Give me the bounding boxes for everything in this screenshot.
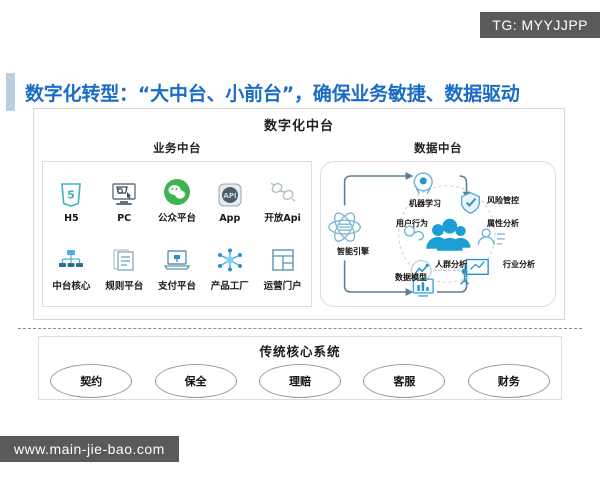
business-item-h5[interactable]: 5 H5 bbox=[45, 180, 98, 224]
business-midplatform-heading: 业务中台 bbox=[42, 137, 312, 161]
section-divider bbox=[18, 328, 582, 329]
data-diagram-container: 智能引擎 机器学习 风险管控 属性分析 行业分析 人群分析 数据模型 用户行为 bbox=[320, 161, 556, 307]
data-node-label-engine: 智能引擎 bbox=[327, 248, 379, 256]
brain-head-icon bbox=[414, 173, 432, 194]
legacy-core-systems-list: 契约 保全 理赔 客服 财务 bbox=[39, 364, 561, 398]
legacy-item[interactable]: 理赔 bbox=[259, 364, 341, 398]
svg-text:5: 5 bbox=[68, 188, 76, 201]
business-item-payment[interactable]: 支付平台 bbox=[151, 245, 204, 292]
business-item-rules[interactable]: 规则平台 bbox=[98, 245, 151, 292]
network-burst-icon bbox=[217, 245, 243, 275]
business-item-pc[interactable]: PC bbox=[98, 180, 151, 224]
legacy-item[interactable]: 客服 bbox=[363, 364, 445, 398]
app-badge-icon: API bbox=[217, 180, 243, 210]
data-node-label-crowd: 人群分析 bbox=[435, 261, 461, 269]
business-item-app[interactable]: API App bbox=[203, 180, 256, 224]
business-item-core[interactable]: 中台核心 bbox=[45, 245, 98, 292]
url-watermark-text: www.main-jie-bao.com bbox=[14, 441, 165, 457]
digital-midplatform-card: 数字化中台 业务中台 5 H5 bbox=[33, 108, 565, 320]
business-item-label: 运营门户 bbox=[264, 278, 302, 292]
business-midplatform-panel: 业务中台 5 H5 bbox=[34, 137, 320, 319]
tg-watermark-badge: TG: MYYJJPP bbox=[480, 12, 600, 38]
business-item-label: PC bbox=[117, 213, 131, 224]
data-node-label-attribute: 属性分析 bbox=[481, 220, 525, 228]
business-item-label: 公众平台 bbox=[158, 210, 196, 224]
business-item-open-api[interactable]: 开放Api bbox=[256, 177, 309, 224]
business-item-public-platform[interactable]: 公众平台 bbox=[151, 177, 204, 224]
dashboard-grid-icon bbox=[270, 245, 296, 275]
desktop-monitor-icon bbox=[110, 180, 138, 210]
data-node-label-model: 数据模型 bbox=[389, 274, 433, 282]
document-rules-icon bbox=[111, 245, 137, 275]
business-icon-row-1: 5 H5 bbox=[45, 177, 309, 224]
business-item-label: 开放Api bbox=[264, 210, 300, 224]
business-item-product-factory[interactable]: 产品工厂 bbox=[203, 245, 256, 292]
data-midplatform-heading: 数据中台 bbox=[320, 137, 556, 161]
title-accent-bar bbox=[6, 73, 15, 111]
midplatform-panels: 业务中台 5 H5 bbox=[34, 137, 564, 319]
tg-watermark-text: TG: MYYJJPP bbox=[492, 17, 588, 33]
page-title-row: 数字化转型：“大中台、小前台”，确保业务敏捷、数据驱动 bbox=[0, 72, 600, 112]
legacy-core-systems-card: 传统核心系统 契约 保全 理赔 客服 财务 bbox=[38, 336, 562, 400]
page-title: 数字化转型：“大中台、小前台”，确保业务敏捷、数据驱动 bbox=[25, 79, 520, 106]
data-midplatform-panel: 数据中台 bbox=[320, 137, 564, 319]
shield-check-icon bbox=[462, 193, 480, 214]
business-item-label: 支付平台 bbox=[158, 278, 196, 292]
data-platform-diagram bbox=[321, 162, 555, 306]
legacy-item[interactable]: 财务 bbox=[468, 364, 550, 398]
api-plug-icon bbox=[268, 177, 298, 207]
legacy-item[interactable]: 契约 bbox=[50, 364, 132, 398]
data-node-label-ml: 机器学习 bbox=[399, 200, 451, 208]
business-icon-row-2: 中台核心 规则平台 bbox=[45, 245, 309, 292]
business-item-label: 产品工厂 bbox=[211, 278, 249, 292]
svg-text:API: API bbox=[223, 192, 236, 200]
atom-icon bbox=[329, 210, 360, 244]
url-watermark-badge: www.main-jie-bao.com bbox=[0, 436, 179, 462]
business-item-label: H5 bbox=[64, 213, 79, 224]
digital-midplatform-title: 数字化中台 bbox=[34, 109, 564, 134]
data-node-label-industry: 行业分析 bbox=[503, 261, 529, 269]
data-node-label-behaviour: 用户行为 bbox=[389, 220, 435, 228]
laptop-payment-icon bbox=[163, 245, 191, 275]
wechat-circle-icon bbox=[163, 177, 191, 207]
business-icon-container: 5 H5 bbox=[42, 161, 312, 307]
data-node-label-risk: 风险管控 bbox=[487, 197, 513, 205]
business-item-label: 中台核心 bbox=[52, 278, 90, 292]
business-item-label: 规则平台 bbox=[105, 278, 143, 292]
business-item-label: App bbox=[219, 213, 240, 224]
html5-shield-icon: 5 bbox=[59, 180, 83, 210]
business-item-operations-portal[interactable]: 运营门户 bbox=[256, 245, 309, 292]
hierarchy-node-icon bbox=[58, 245, 84, 275]
legacy-item[interactable]: 保全 bbox=[155, 364, 237, 398]
legacy-core-systems-title: 传统核心系统 bbox=[39, 337, 561, 360]
user-attributes-icon bbox=[478, 229, 505, 245]
